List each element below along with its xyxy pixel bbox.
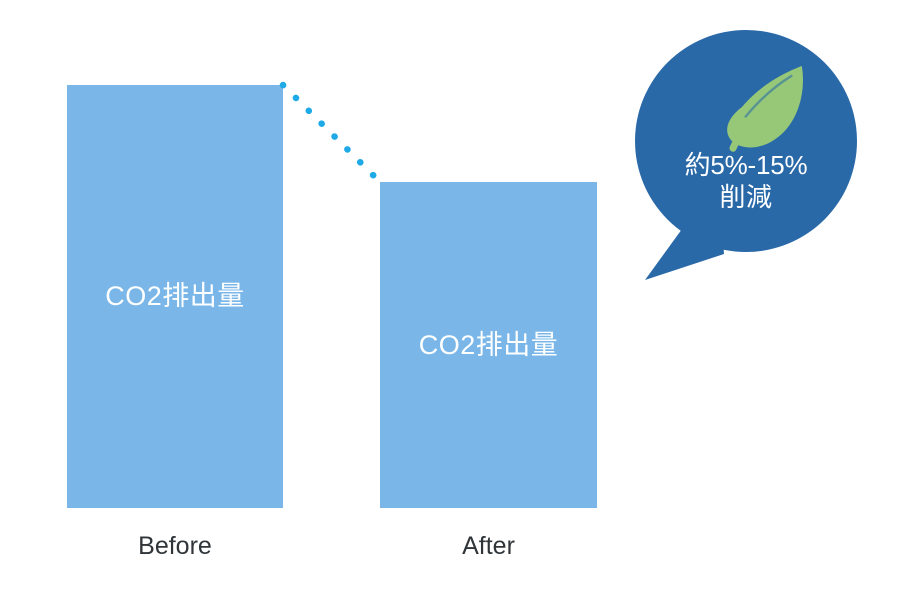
dotted-connector-line bbox=[270, 72, 398, 200]
category-label-before: Before bbox=[67, 534, 283, 559]
category-label-after: After bbox=[380, 534, 597, 559]
bar-before[interactable]: CO2排出量 bbox=[67, 85, 283, 508]
badge-bubble-shape bbox=[628, 22, 864, 292]
connector-stroke bbox=[283, 85, 381, 183]
reduction-badge[interactable]: 約5%-15% 削減 bbox=[628, 22, 864, 292]
bar-before-inner-label: CO2排出量 bbox=[67, 283, 283, 310]
bar-after-inner-label: CO2排出量 bbox=[380, 332, 597, 359]
chart-canvas: CO2排出量 CO2排出量 Before After 約5%-15% 削減 bbox=[0, 0, 900, 590]
bar-after[interactable]: CO2排出量 bbox=[380, 182, 597, 508]
